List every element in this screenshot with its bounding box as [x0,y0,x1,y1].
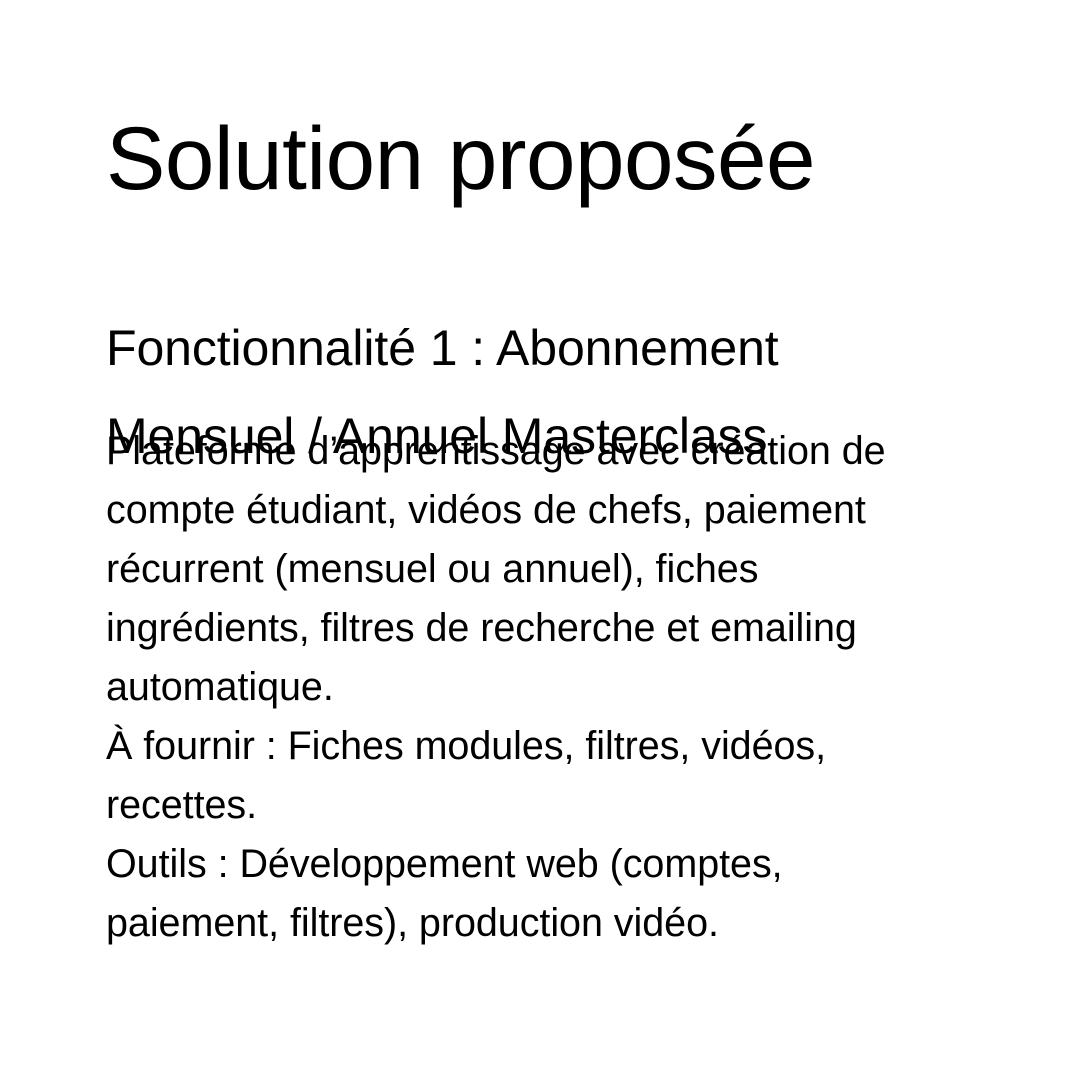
feature-description-text: Plateforme d’apprentissage avec création… [106,422,958,717]
deliverables-block: À fournir : Fiches modules, filtres, vid… [106,717,958,953]
slide-root: Solution proposée Fonctionnalité 1 : Abo… [0,0,1080,1080]
deliverables-text: À fournir : Fiches modules, filtres, vid… [106,717,958,835]
feature-description-block: Plateforme d’apprentissage avec création… [106,422,958,717]
tools-text: Outils : Développement web (comptes, pai… [106,835,958,953]
page-title: Solution proposée [106,112,1006,205]
